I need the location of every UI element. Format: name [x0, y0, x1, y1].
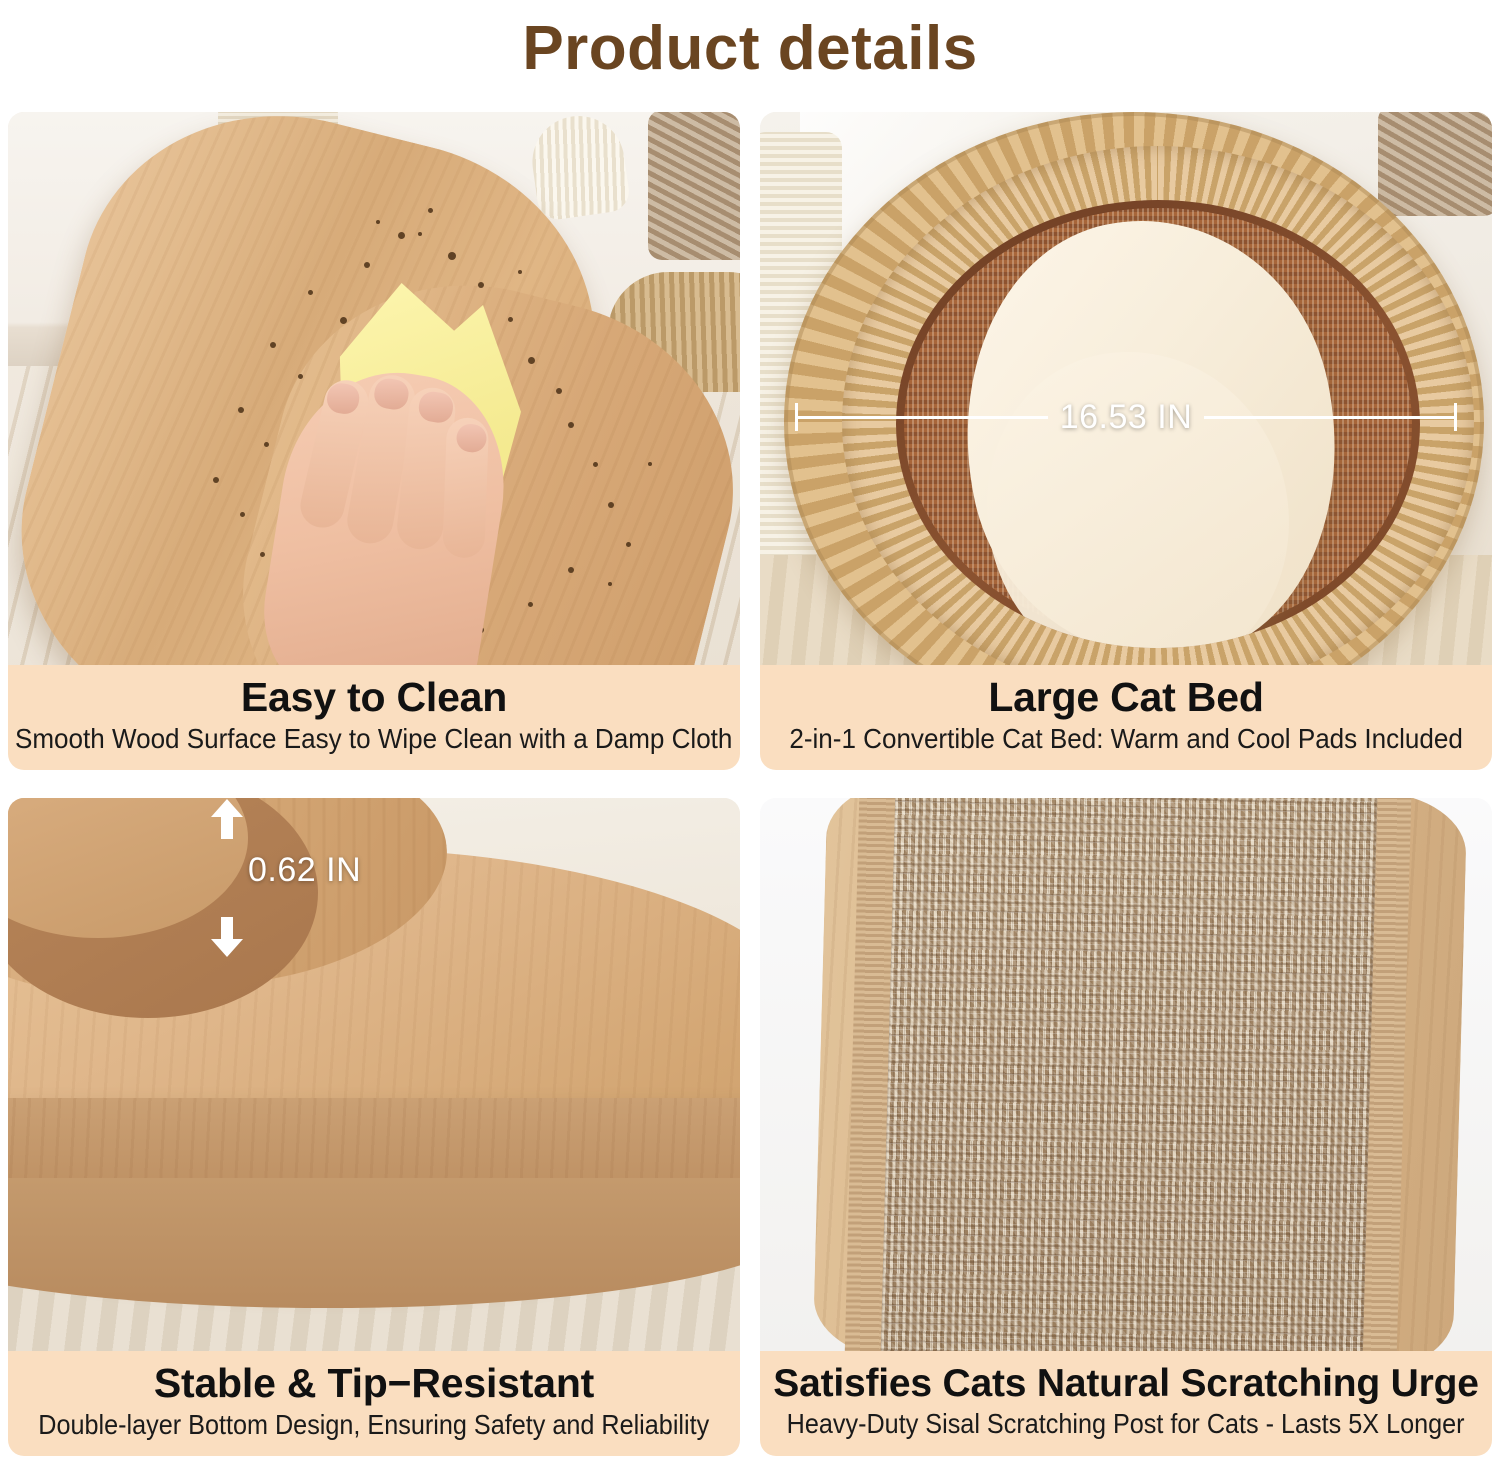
caption-title: Stable & Tip−Resistant [154, 1363, 594, 1405]
caption-subtitle: Double-layer Bottom Design, Ensuring Saf… [39, 1410, 710, 1439]
sisal-texture-object [648, 112, 740, 260]
caption-title: Large Cat Bed [988, 677, 1263, 719]
page-title: Product details [0, 0, 1500, 96]
feature-card-satisfies-cats-scratching[interactable]: Satisfies Cats Natural Scratching Urge H… [760, 798, 1492, 1456]
dimension-line-left [798, 416, 1048, 419]
caption-subtitle: Heavy-Duty Sisal Scratching Post for Cat… [787, 1409, 1465, 1438]
caption-title: Satisfies Cats Natural Scratching Urge [773, 1364, 1478, 1404]
arrow-up-icon [210, 799, 244, 839]
dimension-label: 16.53 IN [1048, 398, 1205, 437]
photo-large-cat-bed: 16.53 IN [760, 112, 1492, 665]
caption-large-cat-bed: Large Cat Bed 2-in-1 Convertible Cat Bed… [760, 665, 1492, 770]
feature-card-stable-tip-resistant[interactable]: 0.62 IN Stable & Tip−Resistant Double-la… [8, 798, 740, 1456]
photo-stable-tip-resistant: 0.62 IN [8, 798, 740, 1351]
dimension-width-annotation: 16.53 IN [795, 402, 1457, 432]
caption-satisfies-cats-scratching: Satisfies Cats Natural Scratching Urge H… [760, 1351, 1492, 1456]
caption-stable-tip-resistant: Stable & Tip−Resistant Double-layer Bott… [8, 1351, 740, 1456]
dimension-label: 0.62 IN [248, 851, 361, 890]
caption-easy-to-clean: Easy to Clean Smooth Wood Surface Easy t… [8, 665, 740, 770]
feature-card-easy-to-clean[interactable]: Easy to Clean Smooth Wood Surface Easy t… [8, 112, 740, 770]
dimension-thickness-annotation: 0.62 IN [204, 799, 384, 959]
feature-card-large-cat-bed[interactable]: 16.53 IN Large Cat Bed 2-in-1 Convertibl… [760, 112, 1492, 770]
sisal-texture-object [1378, 112, 1492, 216]
dimension-tick-right [1454, 403, 1457, 431]
arrow-down-icon [210, 917, 244, 957]
dimension-line-right [1204, 416, 1454, 419]
product-details-page: Product details [0, 0, 1500, 1462]
caption-title: Easy to Clean [241, 677, 507, 719]
photo-easy-to-clean [8, 112, 740, 665]
caption-subtitle: 2-in-1 Convertible Cat Bed: Warm and Coo… [789, 724, 1463, 753]
feature-grid: Easy to Clean Smooth Wood Surface Easy t… [8, 112, 1492, 1456]
photo-sisal-scratching-post [760, 798, 1492, 1351]
sisal-weave-surface [880, 798, 1377, 1351]
caption-subtitle: Smooth Wood Surface Easy to Wipe Clean w… [15, 724, 732, 753]
